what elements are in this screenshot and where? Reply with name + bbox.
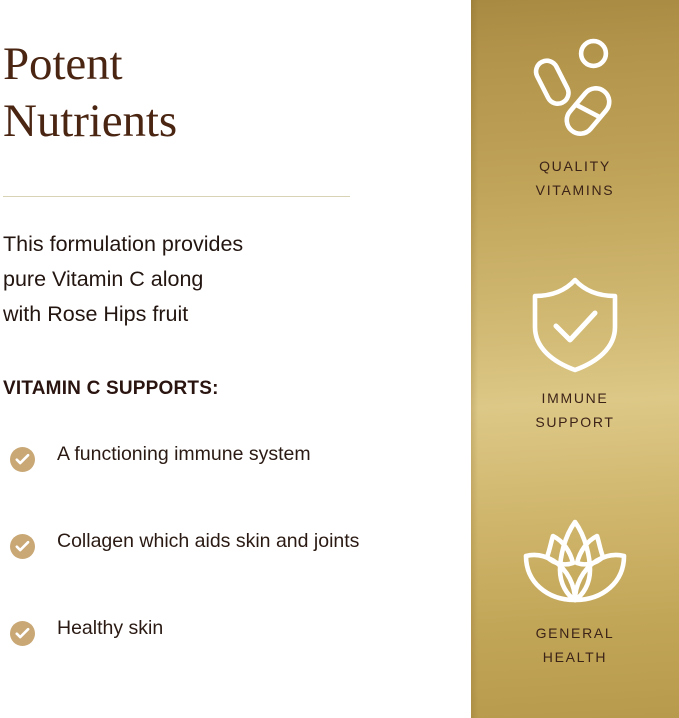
- list-item-label: A functioning immune system: [57, 440, 400, 468]
- list-item-label: Collagen which aids skin and joints: [57, 527, 400, 555]
- feature-label: GENERAL HEALTH: [471, 621, 679, 669]
- shield-check-icon: [471, 268, 679, 380]
- intro-line-3: with Rose Hips fruit: [3, 297, 363, 332]
- intro-line-2: pure Vitamin C along: [3, 262, 363, 297]
- lotus-flower-icon: [471, 505, 679, 615]
- feature-quality-vitamins: QUALITY VITAMINS: [471, 30, 679, 202]
- feature-label-line-1: QUALITY: [471, 154, 679, 178]
- feature-label-line-2: VITAMINS: [471, 178, 679, 202]
- intro-paragraph: This formulation provides pure Vitamin C…: [3, 227, 363, 332]
- feature-label-line-1: GENERAL: [471, 621, 679, 645]
- feature-label: QUALITY VITAMINS: [471, 154, 679, 202]
- feature-label-line-2: SUPPORT: [471, 410, 679, 434]
- feature-label-line-1: IMMUNE: [471, 386, 679, 410]
- list-item: A functioning immune system: [0, 440, 400, 476]
- gold-feature-sidebar: QUALITY VITAMINS IMMUNE SUPPORT: [471, 0, 679, 718]
- title-divider: [3, 196, 350, 197]
- check-circle-icon: [10, 621, 35, 646]
- list-item: Healthy skin: [0, 614, 400, 650]
- left-content-column: Potent Nutrients This formulation provid…: [0, 0, 460, 718]
- check-circle-icon: [10, 447, 35, 472]
- page-title-line-2: Nutrients: [3, 93, 403, 150]
- feature-immune-support: IMMUNE SUPPORT: [471, 268, 679, 434]
- benefits-list: A functioning immune system Collagen whi…: [0, 440, 400, 650]
- page-title: Potent Nutrients: [3, 36, 403, 150]
- list-item-label: Healthy skin: [57, 614, 400, 642]
- check-circle-icon: [10, 534, 35, 559]
- list-item: Collagen which aids skin and joints: [0, 527, 400, 563]
- feature-general-health: GENERAL HEALTH: [471, 505, 679, 669]
- feature-label: IMMUNE SUPPORT: [471, 386, 679, 434]
- intro-line-1: This formulation provides: [3, 227, 363, 262]
- feature-label-line-2: HEALTH: [471, 645, 679, 669]
- supports-heading: VITAMIN C SUPPORTS:: [3, 378, 219, 400]
- page-title-line-1: Potent: [3, 36, 403, 93]
- pills-capsules-icon: [471, 30, 679, 148]
- product-feature-panel: Potent Nutrients This formulation provid…: [0, 0, 679, 718]
